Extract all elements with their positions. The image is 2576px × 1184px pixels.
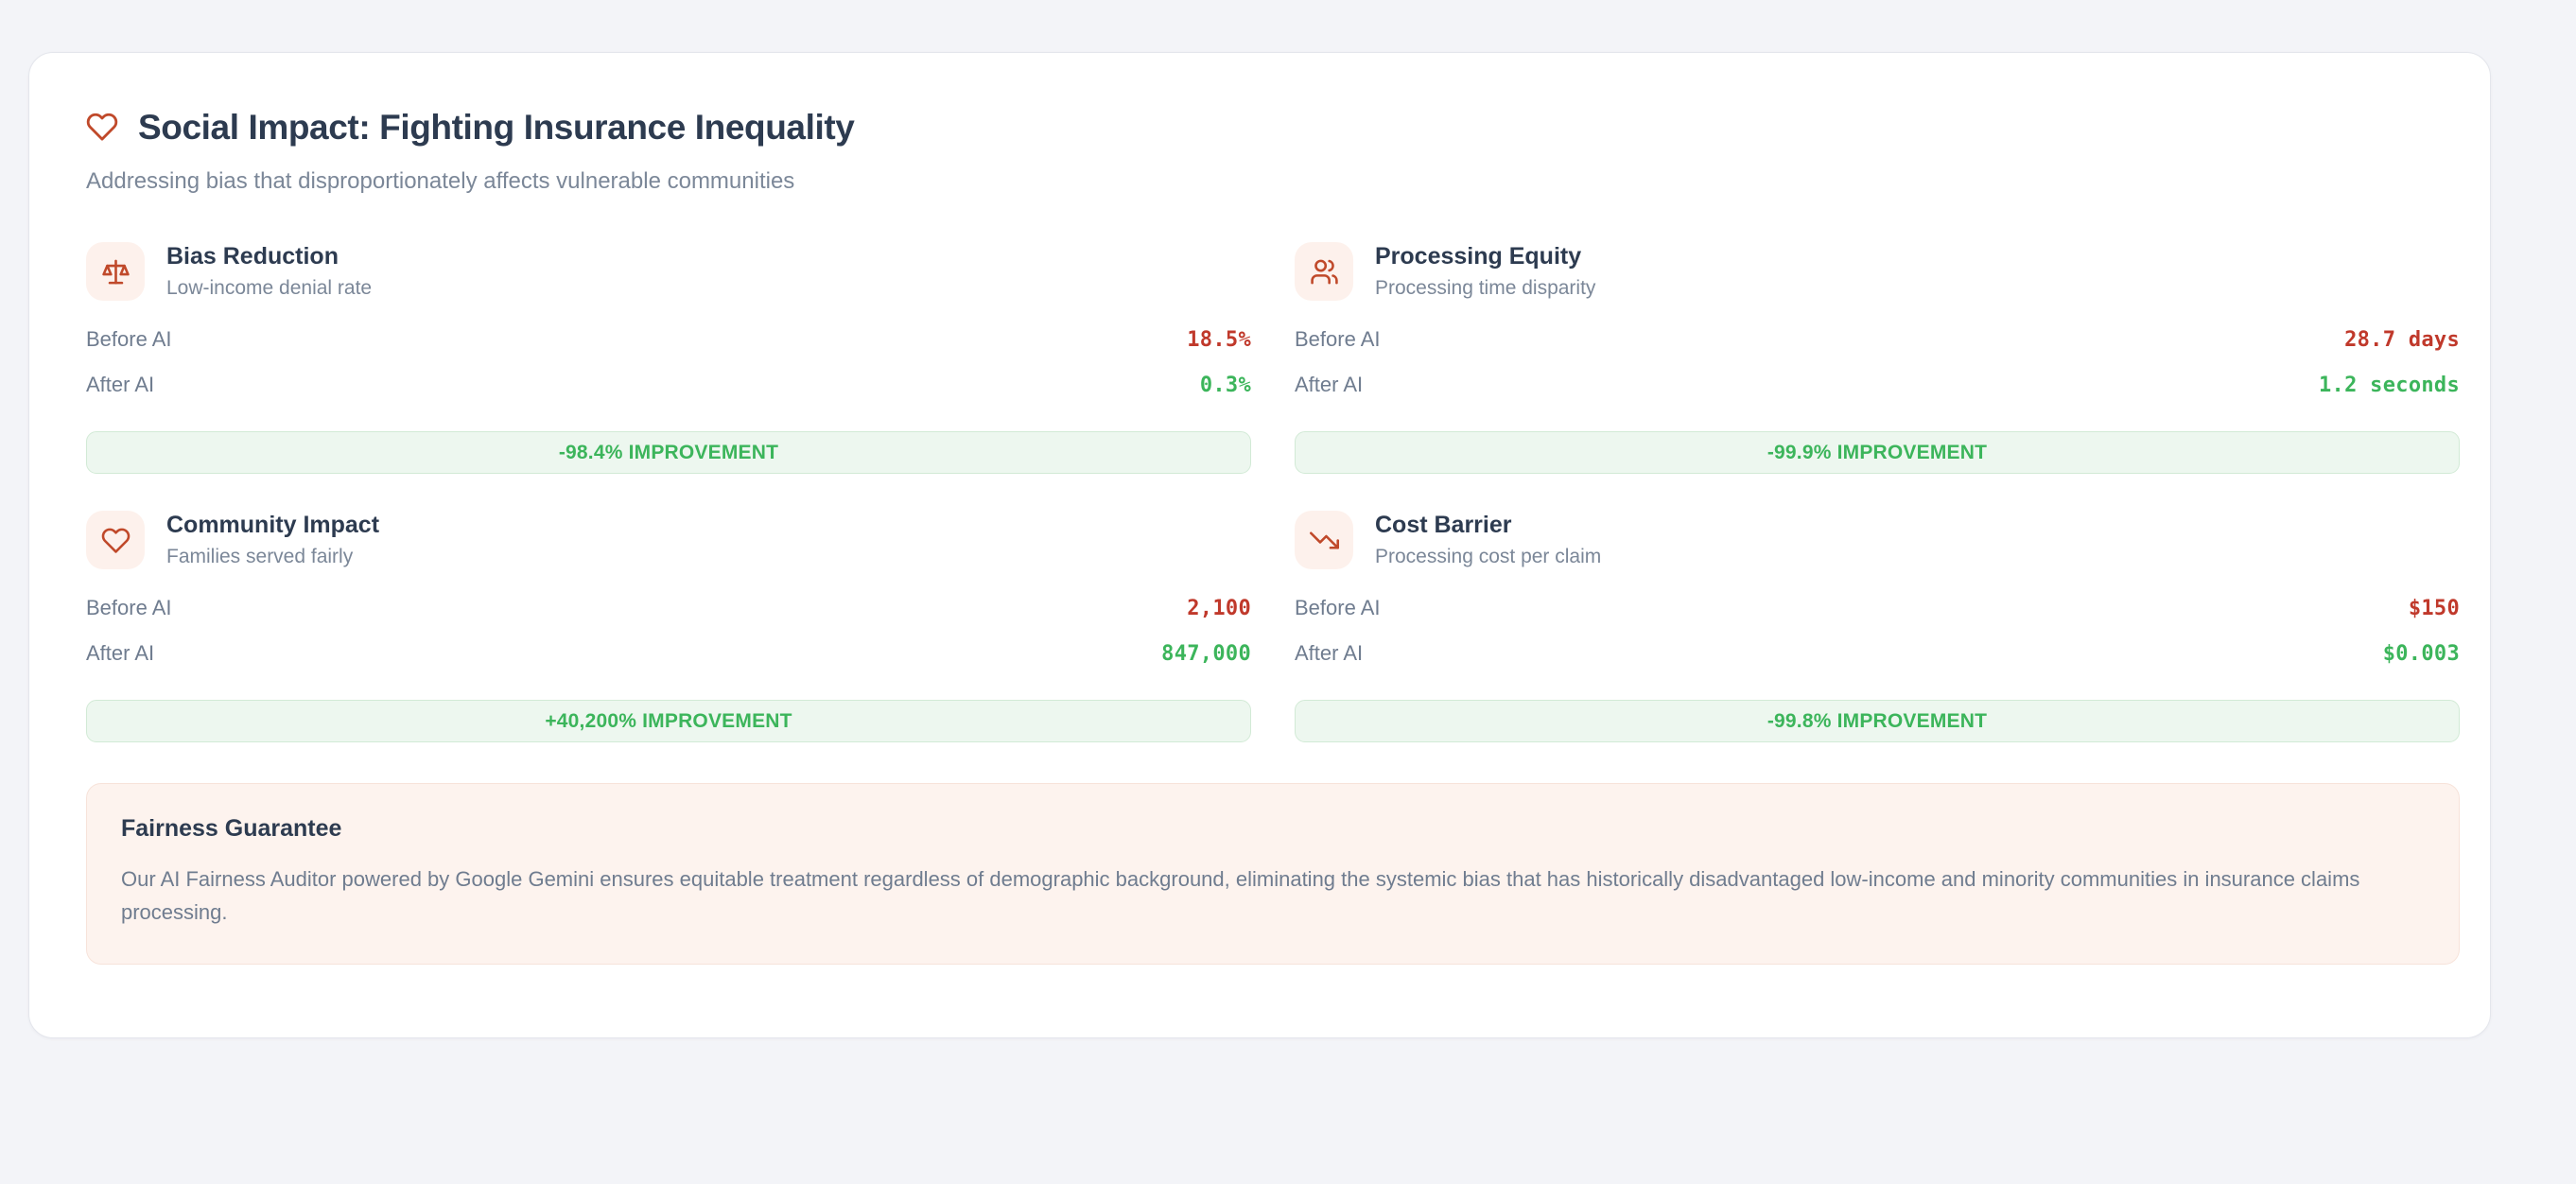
metric-subtitle: Processing time disparity [1375,277,1595,299]
metric-card-community-impact: Community Impact Families served fairly … [86,505,1251,742]
metric-header-text: Cost Barrier Processing cost per claim [1375,513,1601,567]
metrics-grid: Bias Reduction Low-income denial rate Be… [86,236,2433,742]
after-value: $0.003 [2383,642,2460,666]
metric-subtitle: Processing cost per claim [1375,546,1601,567]
metric-row-before: Before AI 28.7 days [1295,327,2460,373]
before-value: 28.7 days [2344,328,2460,352]
metric-rows: Before AI 18.5% After AI 0.3% [86,327,1251,418]
users-icon [1295,242,1353,301]
metric-rows: Before AI 2,100 After AI 847,000 [86,596,1251,687]
after-label: After AI [86,373,154,397]
fairness-guarantee-body: Our AI Fairness Auditor powered by Googl… [121,862,2425,930]
metric-card-cost-barrier: Cost Barrier Processing cost per claim B… [1295,505,2460,742]
fairness-guarantee-title: Fairness Guarantee [121,816,2425,843]
metric-card-processing-equity: Processing Equity Processing time dispar… [1295,236,2460,474]
scales-icon [86,242,145,301]
trending-down-icon [1295,511,1353,569]
before-value: 2,100 [1187,597,1251,620]
before-label: Before AI [86,327,172,352]
improvement-badge: -99.9% IMPROVEMENT [1295,431,2460,474]
metric-row-after: After AI 847,000 [86,641,1251,687]
metric-title: Bias Reduction [166,244,372,270]
before-label: Before AI [1295,596,1381,620]
metric-header: Cost Barrier Processing cost per claim [1295,505,2460,575]
after-value: 1.2 seconds [2319,374,2460,397]
after-label: After AI [1295,641,1363,666]
before-value: $150 [2409,597,2460,620]
improvement-badge: -98.4% IMPROVEMENT [86,431,1251,474]
metric-rows: Before AI 28.7 days After AI 1.2 seconds [1295,327,2460,418]
metric-header: Processing Equity Processing time dispar… [1295,236,2460,306]
metric-row-after: After AI 1.2 seconds [1295,373,2460,418]
metric-row-after: After AI $0.003 [1295,641,2460,687]
heart-icon [86,111,118,143]
before-label: Before AI [1295,327,1381,352]
before-label: Before AI [86,596,172,620]
page-title: Social Impact: Fighting Insurance Inequa… [138,110,854,145]
metric-subtitle: Low-income denial rate [166,277,372,299]
metric-rows: Before AI $150 After AI $0.003 [1295,596,2460,687]
metric-title: Community Impact [166,513,379,539]
before-value: 18.5% [1187,328,1251,352]
improvement-badge: -99.8% IMPROVEMENT [1295,700,2460,742]
heart-icon [86,511,145,569]
metric-row-before: Before AI 2,100 [86,596,1251,641]
social-impact-panel: Social Impact: Fighting Insurance Inequa… [28,52,2491,1038]
after-label: After AI [86,641,154,666]
metric-header-text: Community Impact Families served fairly [166,513,379,567]
panel-header: Social Impact: Fighting Insurance Inequa… [86,102,2433,196]
metric-header-text: Bias Reduction Low-income denial rate [166,244,372,299]
after-value: 847,000 [1161,642,1251,666]
title-row: Social Impact: Fighting Insurance Inequa… [86,102,2433,151]
metric-card-bias-reduction: Bias Reduction Low-income denial rate Be… [86,236,1251,474]
metric-row-after: After AI 0.3% [86,373,1251,418]
metric-title: Cost Barrier [1375,513,1601,539]
metric-title: Processing Equity [1375,244,1595,270]
after-label: After AI [1295,373,1363,397]
metric-row-before: Before AI $150 [1295,596,2460,641]
metric-header: Bias Reduction Low-income denial rate [86,236,1251,306]
page-subtitle: Addressing bias that disproportionately … [86,166,2433,196]
metric-header: Community Impact Families served fairly [86,505,1251,575]
fairness-guarantee-box: Fairness Guarantee Our AI Fairness Audit… [86,783,2460,965]
metric-row-before: Before AI 18.5% [86,327,1251,373]
after-value: 0.3% [1200,374,1251,397]
metric-subtitle: Families served fairly [166,546,379,567]
metric-header-text: Processing Equity Processing time dispar… [1375,244,1595,299]
improvement-badge: +40,200% IMPROVEMENT [86,700,1251,742]
